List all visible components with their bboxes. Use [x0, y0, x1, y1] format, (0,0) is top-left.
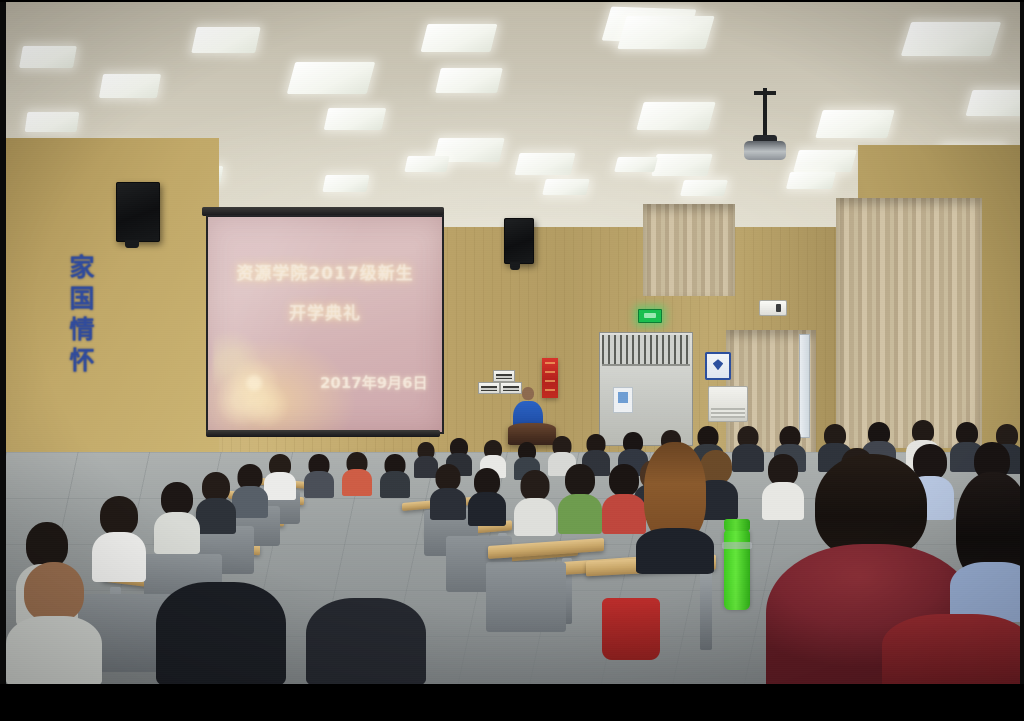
audience-member-foreground	[306, 598, 426, 684]
torso	[430, 488, 466, 520]
ceiling-light	[651, 154, 712, 176]
ceiling-light	[404, 156, 449, 172]
audience-member	[342, 452, 372, 496]
bottle-cap	[724, 519, 750, 531]
audience-member-foreground	[156, 582, 286, 684]
ceiling-light	[786, 172, 836, 189]
audience-member	[380, 454, 410, 498]
torso	[306, 598, 426, 684]
wall-speaker-front	[504, 218, 534, 264]
audience-member-foreground	[950, 472, 1020, 622]
torso	[950, 562, 1020, 622]
ceiling-light	[191, 27, 261, 53]
torso	[196, 498, 236, 534]
auditorium-scene: 家国情怀 资源学院2017级新生 开学典礼 2017年9月6日	[6, 2, 1020, 684]
wall-panel-box	[478, 382, 500, 394]
wall-speaker-left	[116, 182, 160, 242]
torso	[558, 494, 602, 534]
ceiling-light	[287, 62, 376, 94]
wall-control-box	[759, 300, 787, 316]
torso	[468, 492, 506, 526]
audience-member	[264, 454, 296, 500]
water-bottle	[724, 530, 750, 610]
slide-title-line1: 资源学院2017级新生	[208, 259, 442, 284]
audience-member	[304, 454, 334, 498]
head	[436, 464, 461, 491]
audience-member	[558, 464, 602, 534]
exit-sign	[638, 309, 662, 323]
torso	[264, 472, 296, 500]
projector-body	[744, 141, 786, 160]
audience-member-foreground	[6, 562, 102, 684]
ceiling-light	[614, 157, 658, 172]
torso	[156, 582, 286, 684]
photograph-container: 家国情怀 资源学院2017级新生 开学典礼 2017年9月6日	[0, 0, 1024, 721]
right-border-band	[1020, 0, 1024, 721]
audience-member	[430, 464, 466, 520]
head	[24, 562, 84, 622]
slide-title-line2: 开学典礼	[208, 299, 442, 324]
ceiling-light	[322, 175, 369, 192]
head	[565, 464, 595, 496]
wall-curtain-upper	[643, 204, 735, 296]
ceiling-light	[617, 16, 714, 49]
ceiling-light	[680, 180, 728, 196]
projection-screen: 资源学院2017级新生 开学典礼 2017年9月6日	[206, 215, 444, 434]
chair-back	[486, 562, 566, 632]
door-notice	[613, 387, 633, 414]
head	[815, 454, 927, 558]
ceiling-light	[324, 108, 387, 130]
torso	[232, 486, 268, 518]
audience-member	[154, 482, 200, 554]
ceiling-light	[542, 179, 590, 195]
door-grille-window	[602, 335, 690, 366]
wall-air-unit	[708, 386, 748, 422]
presenter-head	[522, 387, 534, 400]
torso	[304, 471, 334, 498]
exit-door	[599, 332, 693, 446]
ceiling-light	[514, 153, 575, 175]
audience-member	[468, 468, 506, 526]
screen-bottom-bar	[206, 430, 440, 437]
ceiling-light	[99, 74, 161, 98]
audience-member	[232, 464, 268, 518]
wall-calligraphy: 家国情怀	[64, 254, 96, 378]
side-window	[799, 334, 810, 438]
shoulder-bag	[602, 598, 660, 660]
slide-flower-graphic	[213, 320, 311, 434]
ceiling-light	[793, 150, 857, 172]
audience-member-foreground	[882, 614, 1020, 684]
torso	[6, 616, 102, 684]
wall-curtain-far-right	[836, 198, 982, 448]
slide-date: 2017年9月6日	[320, 372, 428, 393]
head	[521, 470, 550, 501]
torso	[380, 471, 410, 498]
bottom-letterbox	[0, 684, 1024, 721]
head	[609, 464, 639, 496]
ceiling-light	[19, 46, 77, 68]
torso	[636, 528, 714, 574]
bottle-ring	[722, 542, 751, 549]
head	[644, 442, 706, 542]
ceiling-light	[435, 68, 503, 93]
torso	[154, 512, 200, 554]
ceiling-light	[636, 102, 716, 130]
left-side-wall	[6, 138, 219, 479]
ceiling-light	[421, 24, 498, 52]
audience-member	[196, 472, 236, 534]
wall-blue-sign	[705, 352, 731, 380]
top-letterbox	[0, 0, 1024, 2]
head	[161, 482, 193, 516]
left-border-band	[0, 0, 6, 721]
torso	[514, 498, 556, 536]
ceiling-light	[966, 90, 1020, 116]
ceiling-light	[25, 112, 80, 132]
ceiling-light	[901, 22, 1001, 56]
wall-panel-box	[493, 370, 515, 382]
audience-member-foreground	[636, 442, 714, 574]
head	[100, 496, 138, 536]
ceiling-projector	[742, 88, 788, 160]
ceiling-light	[815, 110, 895, 138]
torso	[882, 614, 1020, 684]
audience-member	[514, 470, 556, 536]
torso	[342, 469, 372, 496]
desk-frame	[700, 570, 712, 650]
